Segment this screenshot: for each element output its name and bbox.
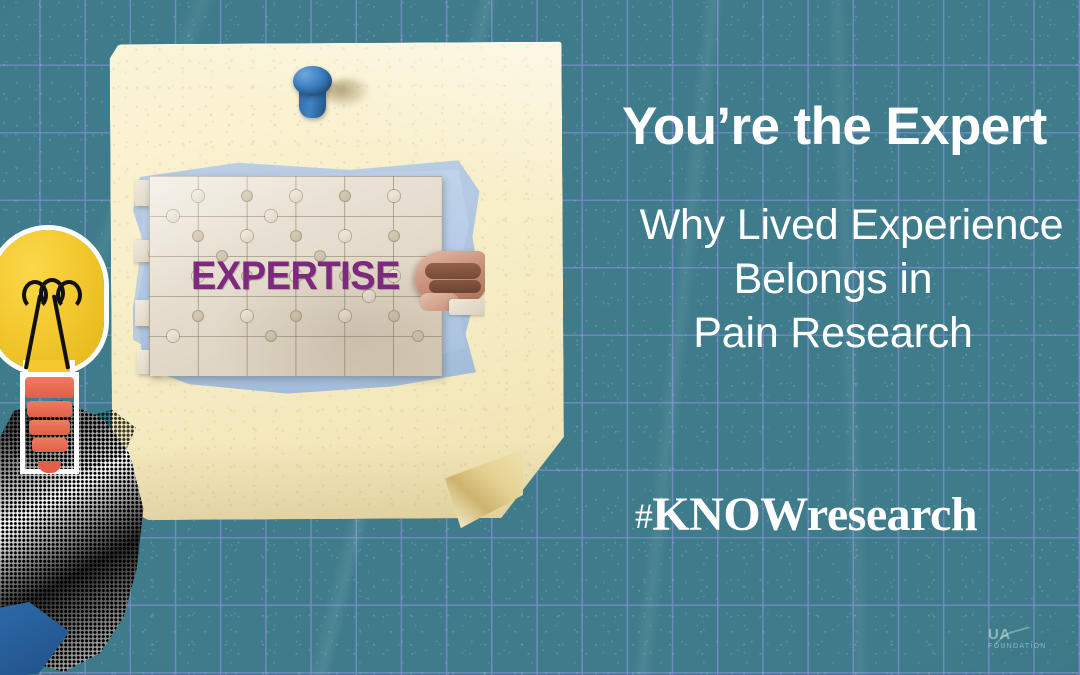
watermark-line-1: UA [988,627,1080,644]
watermark-line-2: FOUNDATION [988,643,1080,651]
lightbulb-in-hand-illustration [0,222,152,675]
promotional-banner: EXPERTISE You’re the Expert [0,0,1080,675]
subheading-line-3: Pain Research [586,307,1080,361]
hand-placing-puzzle-piece-icon [409,247,485,319]
expertise-word: EXPERTISE [156,176,434,376]
campaign-hashtag: #KNOWresearch [586,487,1026,542]
lightbulb-screw-base-icon [25,377,74,469]
subheading-line-2: Belongs in [586,253,1080,307]
organization-watermark: UA FOUNDATION [988,627,1080,651]
filament-loop [56,280,82,310]
subheading: Why Lived Experience Belongs in Pain Res… [586,199,1080,360]
page-title: You’re the Expert [622,99,1047,155]
hashtag-word: KNOWresearch [652,488,977,541]
puzzle-photo: EXPERTISE [133,152,485,407]
pushpin-head-icon [293,66,332,96]
text-column: You’re the Expert Why Lived Experience B… [586,0,1080,675]
subheading-line-1: Why Lived Experience [623,199,1080,253]
hash-symbol: # [635,496,653,536]
